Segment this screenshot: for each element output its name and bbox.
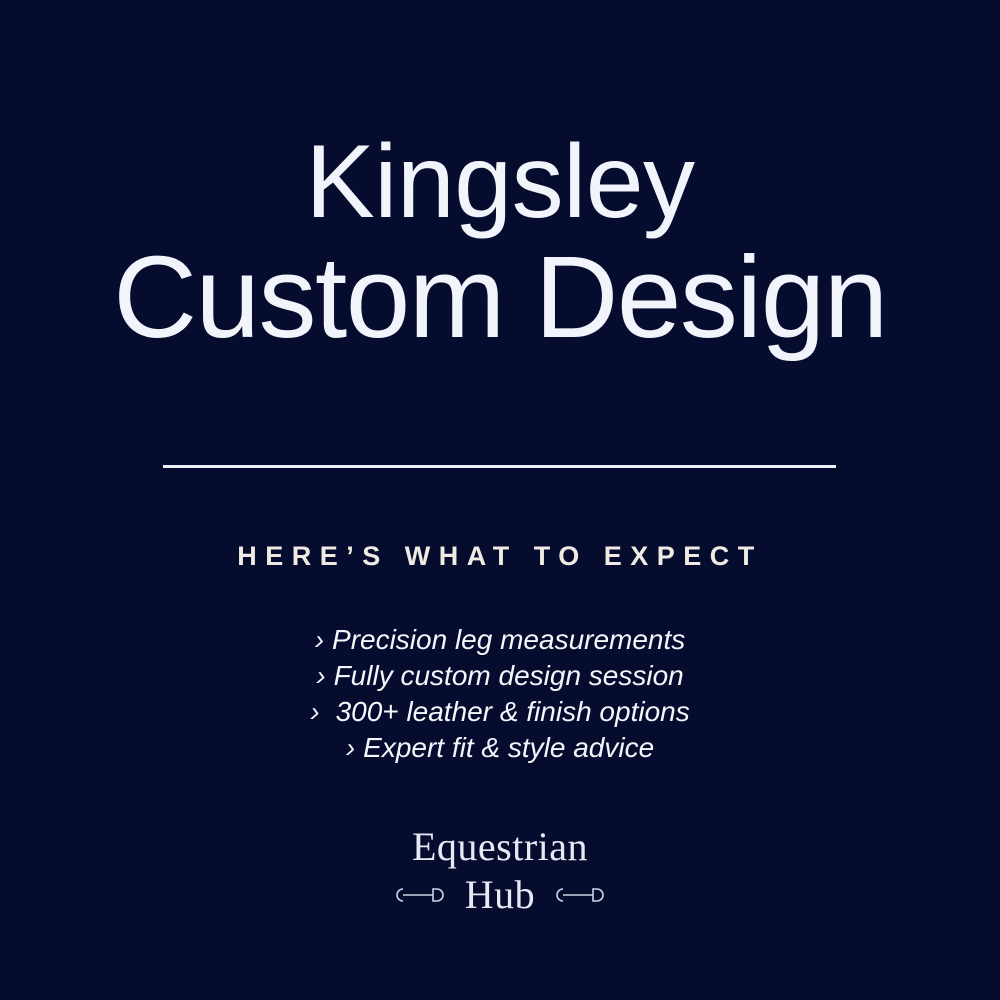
list-item-label: 300+ leather & finish options [336,696,690,727]
chevron-right-icon: › [346,730,363,766]
page-title: Kingsley Custom Design [0,126,1000,356]
list-item-label: Precision leg measurements [332,624,685,655]
chevron-right-icon: › [316,658,333,694]
chevron-right-icon: › [310,694,335,730]
list-item-label: Expert fit & style advice [363,732,654,763]
promo-poster: Kingsley Custom Design HERE’S WHAT TO EX… [0,0,1000,1000]
list-item: ›300+ leather & finish options [0,694,1000,730]
list-item: ›Fully custom design session [0,658,1000,694]
horse-bit-ornament-left [391,886,449,904]
chevron-right-icon: › [315,622,332,658]
headline-line-1: Kingsley [0,126,1000,238]
list-item: ›Expert fit & style advice [0,730,1000,766]
horse-bit-ornament-right [551,886,609,904]
headline-line-2: Custom Design [0,238,1000,356]
logo-word-equestrian: Equestrian [0,824,1000,870]
list-item-label: Fully custom design session [334,660,684,691]
benefits-list: ›Precision leg measurements ›Fully custo… [0,622,1000,766]
logo-bottom-row: Hub [0,872,1000,918]
list-item: ›Precision leg measurements [0,622,1000,658]
divider-rule [163,465,836,468]
logo-word-hub: Hub [465,872,535,918]
brand-logo: Equestrian Hub [0,824,1000,918]
eyebrow-heading: HERE’S WHAT TO EXPECT [0,539,1000,573]
